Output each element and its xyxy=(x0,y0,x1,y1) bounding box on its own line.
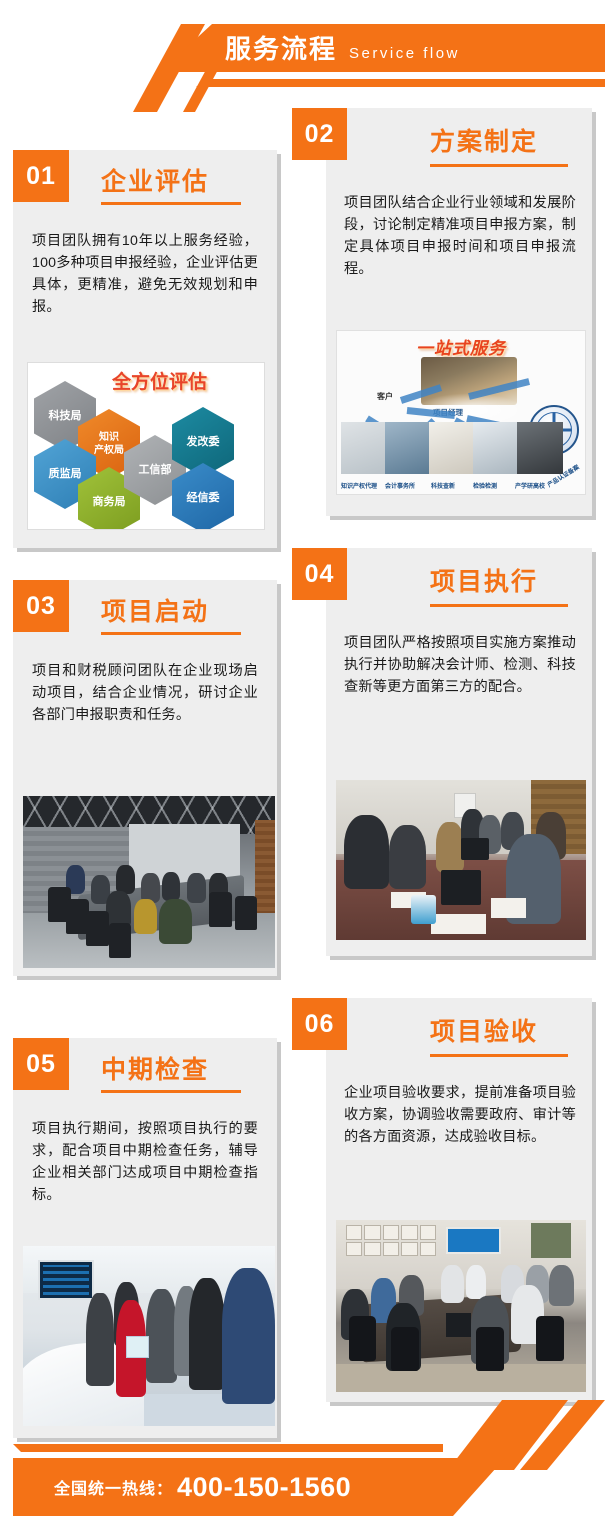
page-title-en: Service flow xyxy=(349,33,460,75)
service-caption-2: 会计事务所 xyxy=(385,481,415,490)
step-photo xyxy=(336,780,586,940)
step-number-badge: 04 xyxy=(292,548,347,600)
step-description: 项目执行期间，按照项目执行的要求，配合项目中期检查任务，辅导企业相关部门达成项目… xyxy=(32,1118,258,1206)
step-description: 企业项目验收要求，提前准备项目验收方案，协调验收需要政府、审计等的各方面资源，达… xyxy=(344,1082,576,1148)
service-caption-3: 科技查新 xyxy=(431,481,455,490)
wall-certificates xyxy=(346,1225,436,1256)
title-underline xyxy=(101,202,241,205)
header-underline-bar xyxy=(196,79,605,87)
service-thumb-3 xyxy=(429,422,475,474)
step-description: 项目和财税顾问团队在企业现场启动项目，结合企业情况，研讨企业各部门申报职责和任务… xyxy=(32,660,258,726)
footer-thin-bar xyxy=(13,1444,443,1452)
step-card-06: 06 项目验收 企业项目验收要求，提前准备项目验收方案，协调验收需要政府、审计等… xyxy=(292,998,596,1406)
step-description: 项目团队拥有10年以上服务经验，100多种项目申报经验，企业评估更具体，更精准，… xyxy=(32,230,258,318)
step-card-01: 01 企业评估 项目团队拥有10年以上服务经验，100多种项目申报经验，企业评估… xyxy=(13,150,281,552)
step-number-badge: 06 xyxy=(292,998,347,1050)
step-description: 项目团队严格按照项目实施方案推动执行并协助解决会计师、检测、科技查新等更方面第三… xyxy=(344,632,576,698)
service-thumb-2 xyxy=(385,422,431,474)
step-title: 项目验收 xyxy=(430,1012,538,1048)
one-stop-service-diagram: 一站式服务 客户 项目经理 知识产权代理 会计事务所 科技查新 检验检测 产学研… xyxy=(336,330,586,495)
title-underline xyxy=(430,604,568,607)
hotline-number[interactable]: 400-150-1560 xyxy=(177,1472,351,1503)
step-title: 方案制定 xyxy=(430,122,538,158)
hexagon-diagram-heading: 全方位评估 xyxy=(112,367,207,394)
service-thumb-5 xyxy=(517,422,563,474)
service-caption-1: 知识产权代理 xyxy=(341,481,377,490)
step-photo xyxy=(23,796,275,968)
title-underline xyxy=(430,1054,568,1057)
page-title: 服务流程 Service flow xyxy=(225,28,460,70)
title-underline xyxy=(101,1090,241,1093)
step-card-02: 02 方案制定 项目团队结合企业行业领域和发展阶段，讨论制定精准项目申报方案，制… xyxy=(292,108,596,520)
step-title: 项目执行 xyxy=(430,562,538,598)
step-title: 项目启动 xyxy=(101,592,209,628)
service-thumb-4 xyxy=(473,422,519,474)
infographic-page: 服务流程 Service flow 01 企业评估 项目团队拥有10年以上服务经… xyxy=(0,0,605,1538)
step-description: 项目团队结合企业行业领域和发展阶段，讨论制定精准项目申报方案，制定具体项目申报时… xyxy=(344,192,576,280)
hotline: 全国统一热线： 400-150-1560 xyxy=(54,1458,351,1516)
step-card-05: 05 中期检查 项目执行期间，按照项目执行的要求，配合项目中期检查任务，辅导企业… xyxy=(13,1038,281,1442)
step-photo xyxy=(23,1246,275,1426)
hexagon-diagram: 全方位评估 科技局 知识产权局 质监局 商务局 工信部 发改委 经信委 xyxy=(27,362,265,530)
service-diagram-heading: 一站式服务 xyxy=(416,334,506,359)
step-title: 中期检查 xyxy=(101,1050,209,1086)
step-number-badge: 03 xyxy=(13,580,69,632)
step-number-badge: 01 xyxy=(13,150,69,202)
title-underline xyxy=(430,164,568,167)
page-header: 服务流程 Service flow xyxy=(0,0,605,96)
step-number-badge: 05 xyxy=(13,1038,69,1090)
service-caption-5: 产学研高校 xyxy=(515,481,545,490)
page-title-cn: 服务流程 xyxy=(225,28,337,70)
service-caption-4: 检验检测 xyxy=(473,481,497,490)
step-photo xyxy=(336,1220,586,1392)
hotline-label: 全国统一热线： xyxy=(54,1475,173,1499)
title-underline xyxy=(101,632,241,635)
step-title: 企业评估 xyxy=(101,162,209,198)
step-number-badge: 02 xyxy=(292,108,347,160)
service-thumb-1 xyxy=(341,422,387,474)
step-card-03: 03 项目启动 项目和财税顾问团队在企业现场启动项目，结合企业情况，研讨企业各部… xyxy=(13,580,281,980)
service-client-label: 客户 xyxy=(377,391,393,402)
step-card-04: 04 项目执行 项目团队严格按照项目实施方案推动执行并协助解决会计师、检测、科技… xyxy=(292,548,596,960)
